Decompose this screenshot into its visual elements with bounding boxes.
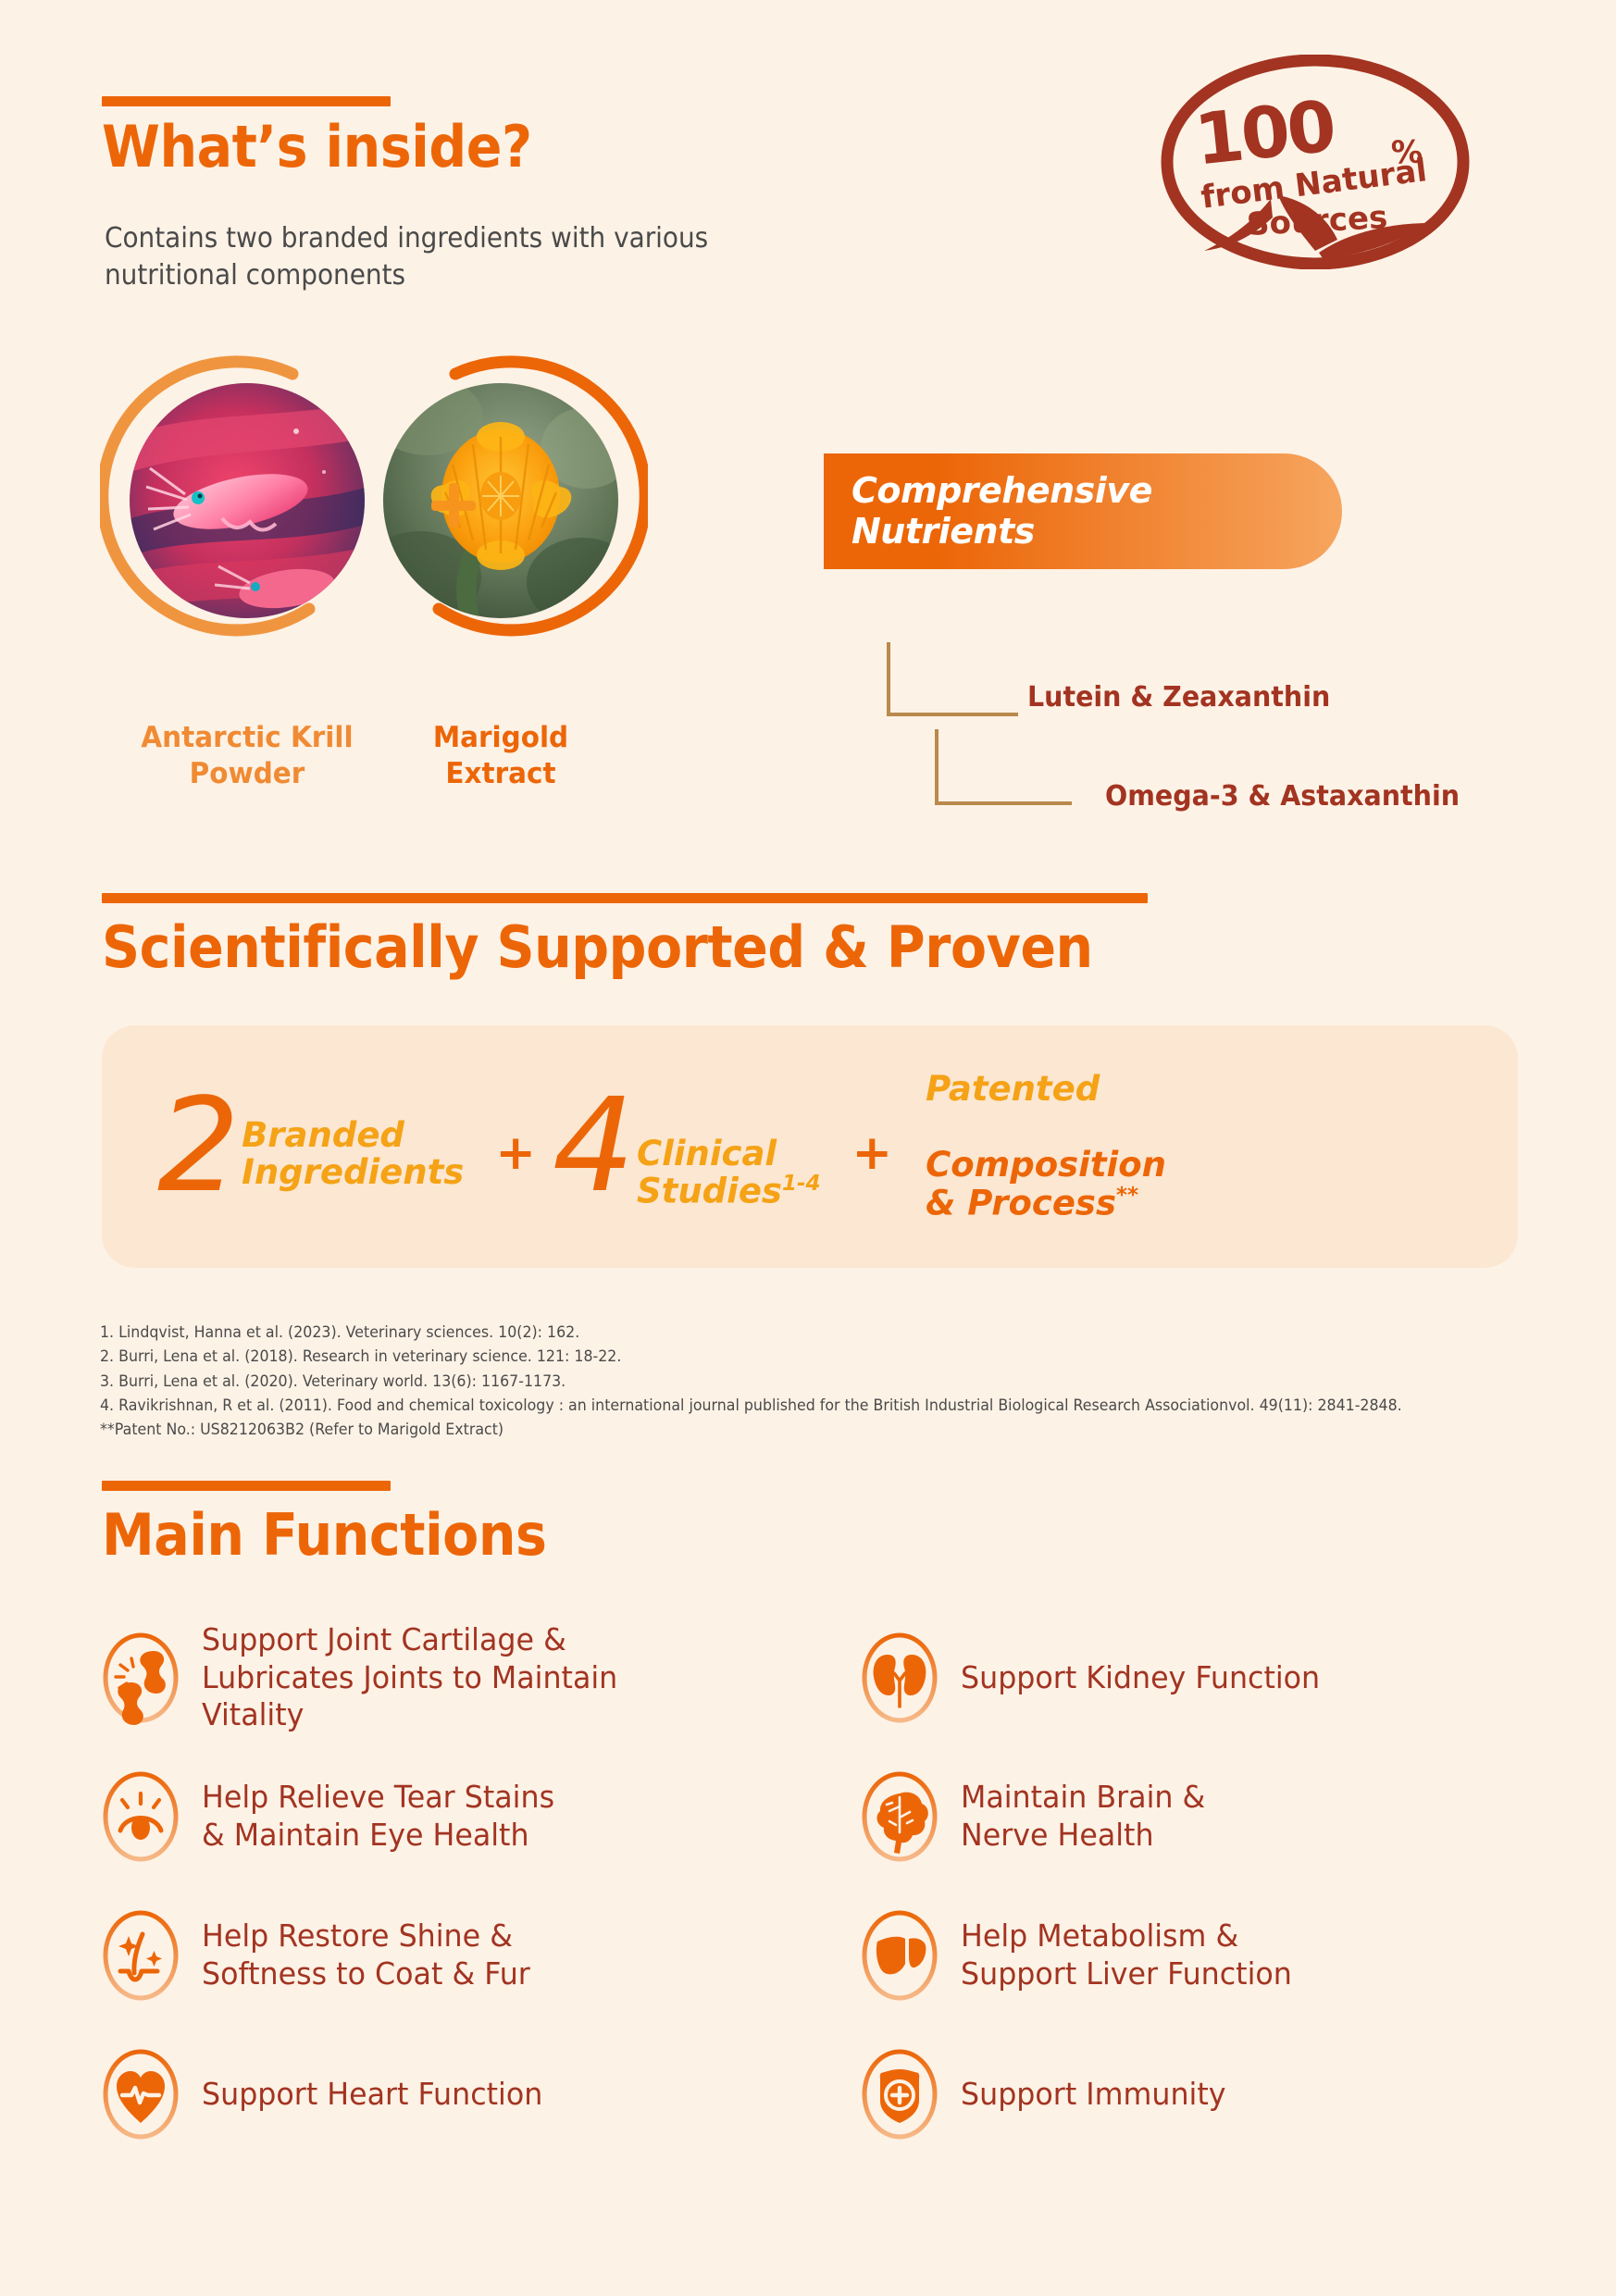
ingredient-marigold: Marigold Extract	[354, 354, 648, 648]
reference-item: 3. Burri, Lena et al. (2020). Veterinary…	[100, 1370, 1477, 1394]
shield-icon	[859, 2047, 940, 2141]
function-item-liver: Help Metabolism & Support Liver Function	[859, 1886, 1544, 2025]
callout-omega3-astaxanthin: Omega-3 & Astaxanthin	[1105, 780, 1460, 813]
reference-item: 4. Ravikrishnan, R et al. (2011). Food a…	[100, 1394, 1477, 1418]
brain-icon	[859, 1769, 940, 1864]
plus-icon-science-1: +	[495, 1125, 536, 1181]
eye-icon	[100, 1769, 181, 1864]
stat-number-branded: 2	[157, 1082, 236, 1211]
krill-label: Antarctic Krill Powder	[106, 720, 388, 792]
reference-item: 1. Lindqvist, Hanna et al. (2023). Veter…	[100, 1321, 1477, 1345]
function-item-joint: Support Joint Cartilage & Lubricates Joi…	[100, 1608, 859, 1747]
joint-icon	[100, 1631, 181, 1725]
badge-ring-icon	[1160, 55, 1471, 269]
marigold-label: Marigold Extract	[360, 720, 641, 792]
function-label: Support Kidney Function	[961, 1659, 1320, 1697]
section-divider-whats-inside	[102, 96, 391, 106]
reference-item: 2. Burri, Lena et al. (2018). Research i…	[100, 1345, 1477, 1369]
heart-icon	[100, 2047, 181, 2141]
function-item-eye: Help Relieve Tear Stains & Maintain Eye …	[100, 1747, 859, 1886]
function-label: Help Restore Shine & Softness to Coat & …	[202, 1917, 530, 1993]
function-label: Support Heart Function	[202, 2076, 542, 2114]
fur-icon	[100, 1908, 181, 2003]
function-label: Support Joint Cartilage & Lubricates Joi…	[202, 1621, 617, 1735]
stat-label-studies: Clinical Studies1-4	[637, 1098, 821, 1210]
function-label: Support Immunity	[961, 2076, 1226, 2114]
patented-line-1: Patented	[926, 1071, 1166, 1109]
function-label: Maintain Brain & Nerve Health	[961, 1779, 1205, 1855]
stat-number-studies: 4	[553, 1082, 631, 1211]
stat-superscript-studies: 1-4	[782, 1172, 821, 1196]
function-item-fur: Help Restore Shine & Softness to Coat & …	[100, 1886, 859, 2025]
krill-photo	[130, 383, 365, 618]
function-item-immunity: Support Immunity	[859, 2025, 1544, 2164]
references-list: 1. Lindqvist, Hanna et al. (2023). Veter…	[100, 1321, 1477, 1443]
callout-connector-lines	[870, 639, 1111, 814]
main-functions-grid: Support Joint Cartilage & Lubricates Joi…	[100, 1608, 1544, 2164]
function-label: Help Relieve Tear Stains & Maintain Eye …	[202, 1779, 554, 1855]
function-item-kidney: Support Kidney Function	[859, 1608, 1544, 1747]
reference-item: **Patent No.: US8212063B2 (Refer to Mari…	[100, 1418, 1477, 1442]
ingredient-krill: Antarctic Krill Powder	[100, 354, 394, 648]
subtitle-text: Contains two branded ingredients with va…	[105, 220, 776, 293]
section-divider-science	[102, 893, 1148, 903]
kidney-icon	[859, 1631, 940, 1725]
marigold-photo	[383, 383, 618, 618]
natural-sources-badge: 100 % from Natural Sources	[1160, 55, 1471, 269]
section-divider-functions	[102, 1481, 391, 1491]
science-section-title: Scientifically Supported & Proven	[102, 913, 1093, 981]
plus-icon-ingredients	[431, 483, 476, 527]
function-item-heart: Support Heart Function	[100, 2025, 859, 2164]
stat-label-patented: Patented Composition & Process**	[926, 1034, 1166, 1260]
function-item-brain: Maintain Brain & Nerve Health	[859, 1747, 1544, 1886]
science-stats-card: 2 Branded Ingredients + 4 Clinical Studi…	[102, 1025, 1518, 1268]
patented-superscript: **	[1116, 1184, 1138, 1208]
comprehensive-nutrients-label: Comprehensive Nutrients	[824, 471, 1152, 552]
liver-icon	[859, 1908, 940, 2003]
infographic-page: What’s inside? Contains two branded ingr…	[0, 0, 1616, 2296]
page-title: What’s inside?	[102, 117, 532, 177]
stat-label-studies-text: Clinical Studies	[637, 1134, 782, 1210]
plus-icon-science-2: +	[852, 1125, 893, 1181]
stat-label-branded: Branded Ingredients	[242, 1117, 464, 1191]
patented-line-2: Composition & Process**	[926, 1147, 1166, 1222]
callout-lutein-zeaxanthin: Lutein & Zeaxanthin	[1027, 681, 1330, 714]
function-label: Help Metabolism & Support Liver Function	[961, 1917, 1292, 1993]
comprehensive-nutrients-pill: Comprehensive Nutrients	[824, 453, 1342, 569]
main-functions-title: Main Functions	[102, 1501, 547, 1569]
